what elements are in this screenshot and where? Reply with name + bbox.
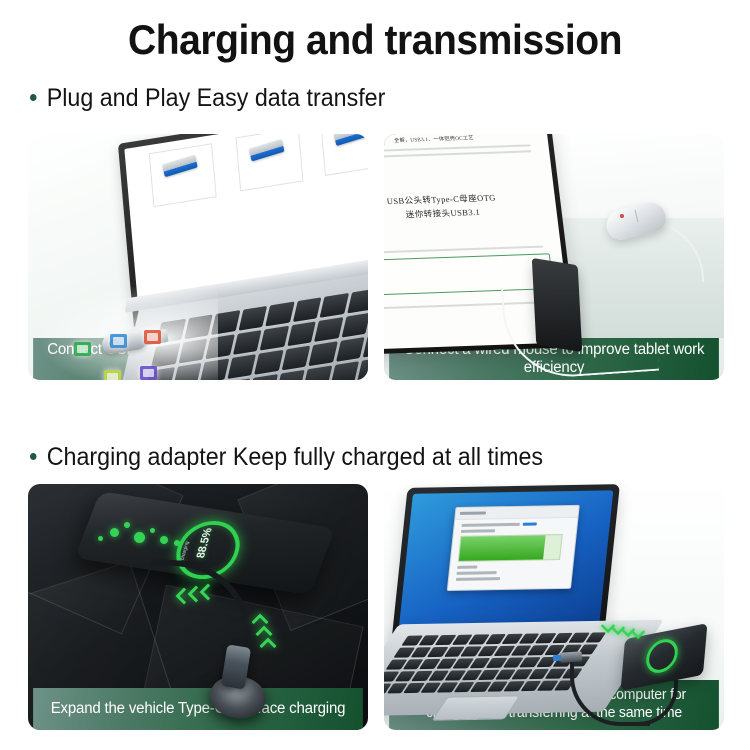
file-icon (140, 366, 157, 380)
dialog-titlebar (455, 506, 579, 520)
bullet-icon (30, 453, 37, 460)
laptop-lid (392, 484, 620, 636)
photo-phone-to-computer (384, 484, 724, 730)
file-icon (144, 330, 161, 344)
panel3-caption: Expand the vehicle Type-C interface char… (33, 688, 363, 730)
product-thumbnail (320, 134, 368, 176)
transfer-progress-bar (458, 534, 563, 562)
panel-vehicle-charging: 88.5% charging Expand the vehicl (28, 484, 368, 730)
file-transfer-dialog (447, 505, 580, 591)
laptop-screen (399, 490, 614, 629)
section-heading-1: Plug and Play Easy data transfer (30, 84, 385, 113)
battery-percent-value: 88.5% (195, 528, 215, 559)
panel-tablet-mouse: 全解，USB3.1、一体铝壳OC工艺 USB公头转Type-C母座OTG 迷你转… (384, 134, 724, 380)
photo-usb-laptop (28, 134, 368, 380)
panel-phone-to-computer: The phone is connected to the computer f… (384, 484, 724, 730)
usb-c-connector (560, 651, 583, 663)
section-heading-1-label: Plug and Play Easy data transfer (47, 84, 386, 112)
page-title: Charging and transmission (26, 16, 724, 64)
file-icon (104, 370, 121, 380)
file-icon (110, 334, 127, 348)
product-thumbnail (149, 143, 217, 207)
transfer-progress-fill (459, 535, 546, 560)
product-feature-page: Charging and transmission Plug and Play … (0, 0, 750, 750)
section-heading-2: Charging adapter Keep fully charged at a… (30, 443, 543, 472)
file-icon (74, 342, 91, 356)
battery-status-label: charging (180, 541, 191, 560)
product-thumbnail (236, 134, 304, 191)
section-heading-2-label: Charging adapter Keep fully charged at a… (47, 443, 543, 471)
bullet-icon (30, 94, 37, 101)
panel-usb-laptop: Connect USB video/Read pictures and text… (28, 134, 368, 380)
wired-mouse (606, 206, 666, 236)
